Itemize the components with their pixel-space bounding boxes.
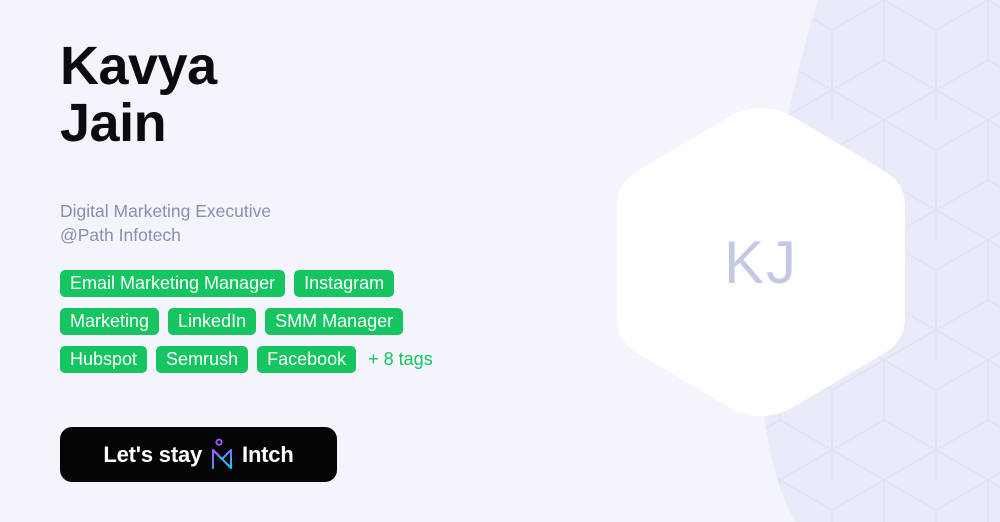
tag-chip[interactable]: Semrush [156, 346, 248, 373]
tag-chip[interactable]: Instagram [294, 270, 394, 297]
tag-row: Hubspot Semrush Facebook + 8 tags [60, 346, 580, 373]
cta-text-before: Let's stay [103, 442, 202, 468]
avatar-initials: KJ [605, 104, 917, 420]
tag-chip[interactable]: Hubspot [60, 346, 147, 373]
tag-chip[interactable]: LinkedIn [168, 308, 256, 335]
more-tags-label[interactable]: + 8 tags [368, 346, 433, 373]
intch-logo-icon [209, 438, 235, 470]
tag-chip[interactable]: SMM Manager [265, 308, 403, 335]
profile-headline: Digital Marketing Executive @Path Infote… [60, 199, 271, 247]
tag-chip[interactable]: Email Marketing Manager [60, 270, 285, 297]
profile-card: KJ Kavya Jain Digital Marketing Executiv… [0, 0, 1000, 522]
page-title: Kavya Jain [60, 38, 217, 152]
tag-row: Email Marketing Manager Instagram [60, 270, 580, 297]
tag-list: Email Marketing Manager Instagram Market… [60, 270, 580, 384]
tag-row: Marketing LinkedIn SMM Manager [60, 308, 580, 335]
lets-stay-intch-button[interactable]: Let's stay Intch [60, 427, 337, 482]
tag-chip[interactable]: Facebook [257, 346, 356, 373]
tag-chip[interactable]: Marketing [60, 308, 159, 335]
avatar: KJ [605, 104, 917, 420]
profile-details: Kavya Jain Digital Marketing Executive @… [60, 0, 600, 522]
cta-text-after: Intch [242, 442, 294, 468]
